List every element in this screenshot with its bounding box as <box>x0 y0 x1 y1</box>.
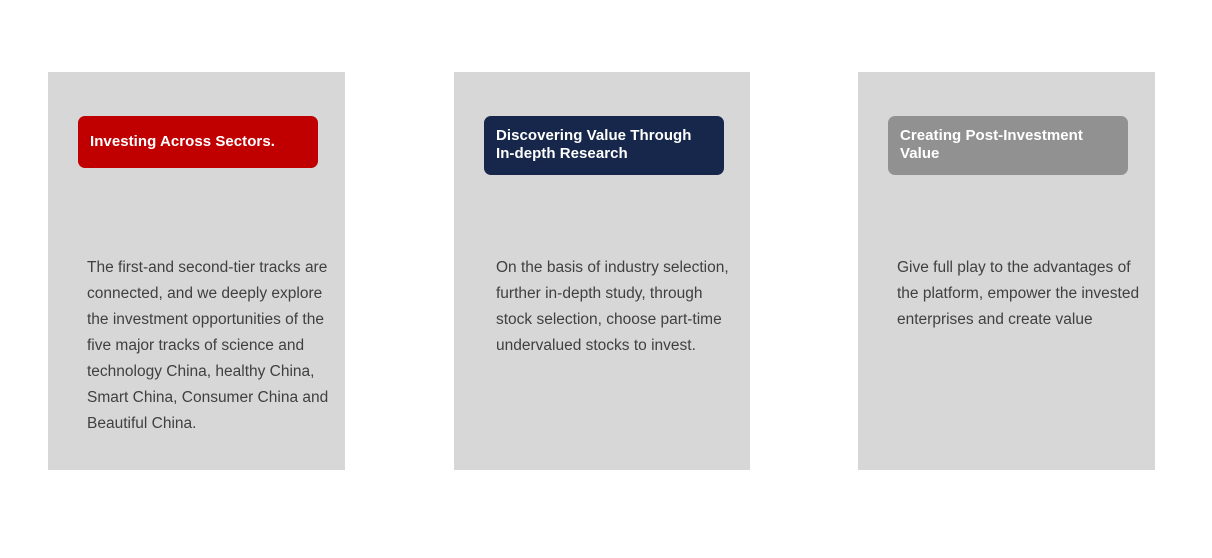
card-3-title-line-2: Value <box>900 145 1116 163</box>
card-2-title-line-1: Discovering Value Through <box>496 127 712 145</box>
card-3-title-badge: Creating Post-Investment Value <box>888 116 1128 175</box>
card-3-title-line-1: Creating Post-Investment <box>900 127 1116 145</box>
card-2-title-badge: Discovering Value Through In-depth Resea… <box>484 116 724 175</box>
card-1-title-badge: Investing Across Sectors. <box>78 116 318 168</box>
cards-board: Investing Across Sectors. The first-and … <box>0 0 1212 558</box>
card-3-body-text: Give full play to the advantages of the … <box>897 255 1147 333</box>
card-2-title-line-2: In-depth Research <box>496 145 712 163</box>
card-2-body-text: On the basis of industry selection, furt… <box>496 255 741 359</box>
card-1-title-line-1: Investing Across Sectors. <box>90 133 275 151</box>
card-1-body-text: The first-and second-tier tracks are con… <box>87 255 337 437</box>
card-discovering-value: Discovering Value Through In-depth Resea… <box>454 72 750 470</box>
card-creating-post-investment-value: Creating Post-Investment Value Give full… <box>858 72 1155 470</box>
card-investing-across-sectors: Investing Across Sectors. The first-and … <box>48 72 345 470</box>
